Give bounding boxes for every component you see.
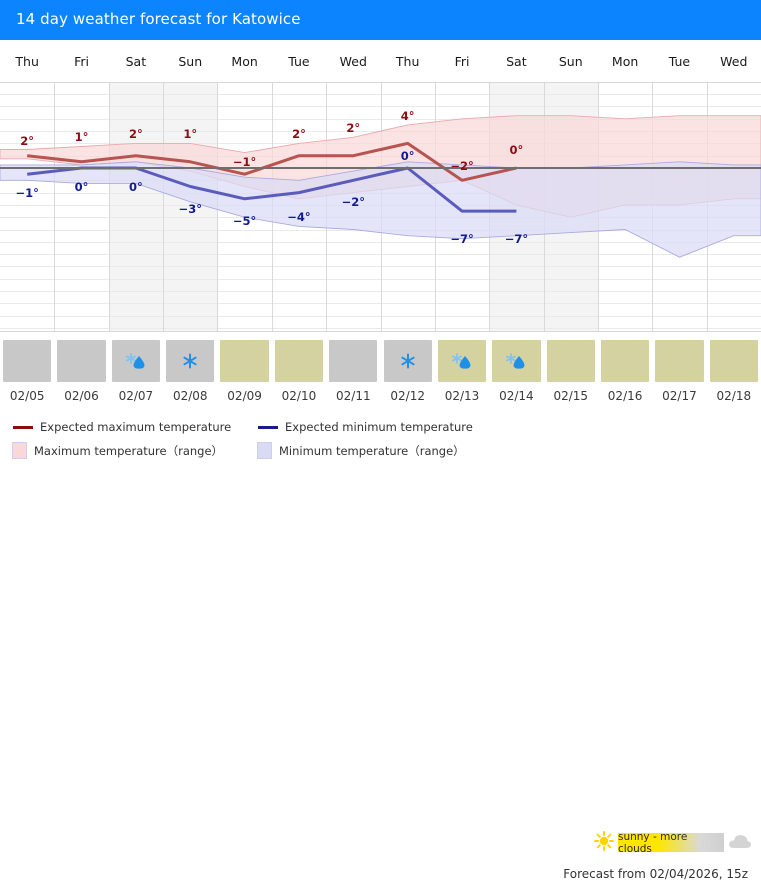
date-cell: 02/13 <box>435 384 489 408</box>
legend-max-line-label: Expected maximum temperature <box>40 420 231 434</box>
legend-min-range: Minimum temperature（range） <box>257 442 465 459</box>
title-bar: 14 day weather forecast for Katowice <box>0 0 761 40</box>
weather-icon-cell <box>166 340 214 382</box>
sun-icon <box>594 831 614 855</box>
max-temp-label: 1° <box>75 130 89 144</box>
date-cell: 02/07 <box>109 384 163 408</box>
weather-icon-cell <box>601 340 649 382</box>
day-name-cell: Thu <box>381 40 435 82</box>
weather-icon-cell <box>3 340 51 382</box>
day-name-cell: Tue <box>272 40 326 82</box>
sky-gradient-label: sunny - more clouds <box>618 831 724 855</box>
max-temp-label: −2° <box>450 159 473 173</box>
min-temp-label: −3° <box>179 202 202 216</box>
min-temp-label: −7° <box>505 232 528 246</box>
legend-min-line: Expected minimum temperature <box>258 420 473 434</box>
weather-icon-cell <box>384 340 432 382</box>
weather-icon-row <box>0 340 761 382</box>
min-range-swatch <box>257 442 272 459</box>
min-temp-label: 0° <box>401 149 415 163</box>
weather-icon-cell <box>655 340 703 382</box>
day-name-cell: Sat <box>109 40 163 82</box>
page-title: 14 day weather forecast for Katowice <box>16 10 301 28</box>
legend-max-range: Maximum temperature（range） <box>12 442 223 459</box>
weather-icon-cell <box>57 340 105 382</box>
day-name-cell: Wed <box>326 40 380 82</box>
day-name-cell: Mon <box>598 40 652 82</box>
min-temp-label: −7° <box>450 232 473 246</box>
day-name-cell: Fri <box>54 40 108 82</box>
max-temp-label: 2° <box>292 127 306 141</box>
legend: Expected maximum temperature Maximum tem… <box>0 412 761 478</box>
max-temp-label: 1° <box>183 127 197 141</box>
sky-gradient-legend: sunny - more clouds <box>618 833 724 852</box>
date-cell: 02/08 <box>163 384 217 408</box>
temperature-chart: 2°1°2°1°−1°2°2°4°−2°0°−1°0°0°−3°−5°−4°−2… <box>0 82 761 332</box>
weather-icon-cell <box>329 340 377 382</box>
day-name-cell: Thu <box>0 40 54 82</box>
date-cell: 02/14 <box>489 384 543 408</box>
range-band-min <box>0 162 761 257</box>
weather-icon-cell <box>710 340 758 382</box>
cloud-icon <box>728 833 752 854</box>
min-temp-label: −2° <box>342 195 365 209</box>
max-temp-label: −1° <box>233 155 256 169</box>
day-name-cell: Tue <box>652 40 706 82</box>
max-range-swatch <box>12 442 27 459</box>
zero-degree-line <box>0 167 761 169</box>
weather-forecast-app: 14 day weather forecast for Katowice Thu… <box>0 0 761 478</box>
legend-min-range-label: Minimum temperature（range） <box>279 443 465 459</box>
min-temp-label: 0° <box>129 180 143 194</box>
date-cell: 02/06 <box>54 384 108 408</box>
legend-min-line-label: Expected minimum temperature <box>285 420 473 434</box>
min-temp-label: −1° <box>15 186 38 200</box>
day-name-cell: Sun <box>544 40 598 82</box>
date-cell: 02/09 <box>217 384 271 408</box>
min-temp-label: −4° <box>287 210 310 224</box>
chart-svg <box>0 83 761 331</box>
min-line-swatch <box>258 426 278 429</box>
date-cell: 02/12 <box>381 384 435 408</box>
weather-icon-cell <box>438 340 486 382</box>
weather-icon-cell <box>492 340 540 382</box>
date-cell: 02/18 <box>707 384 761 408</box>
day-name-cell: Sun <box>163 40 217 82</box>
legend-max-line: Expected maximum temperature <box>13 420 231 434</box>
day-name-row: ThuFriSatSunMonTueWedThuFriSatSunMonTueW… <box>0 40 761 82</box>
legend-max-range-label: Maximum temperature（range） <box>34 443 223 459</box>
date-cell: 02/11 <box>326 384 380 408</box>
date-cell: 02/10 <box>272 384 326 408</box>
date-cell: 02/16 <box>598 384 652 408</box>
day-name-cell: Mon <box>217 40 271 82</box>
weather-icon-cell <box>220 340 268 382</box>
date-row: 02/0502/0602/0702/0802/0902/1002/1102/12… <box>0 384 761 408</box>
day-name-cell: Sat <box>489 40 543 82</box>
date-cell: 02/17 <box>652 384 706 408</box>
day-name-cell: Wed <box>707 40 761 82</box>
max-temp-label: 0° <box>510 143 524 157</box>
max-temp-label: 2° <box>20 134 34 148</box>
day-name-cell: Fri <box>435 40 489 82</box>
min-temp-label: −5° <box>233 214 256 228</box>
date-cell: 02/05 <box>0 384 54 408</box>
max-temp-label: 2° <box>129 127 143 141</box>
max-line-swatch <box>13 426 33 429</box>
max-temp-label: 4° <box>401 109 415 123</box>
min-temp-label: 0° <box>75 180 89 194</box>
max-temp-label: 2° <box>346 121 360 135</box>
weather-icon-cell <box>112 340 160 382</box>
date-cell: 02/15 <box>544 384 598 408</box>
forecast-timestamp: Forecast from 02/04/2026, 15z <box>563 867 748 881</box>
weather-icon-cell <box>547 340 595 382</box>
weather-icon-cell <box>275 340 323 382</box>
